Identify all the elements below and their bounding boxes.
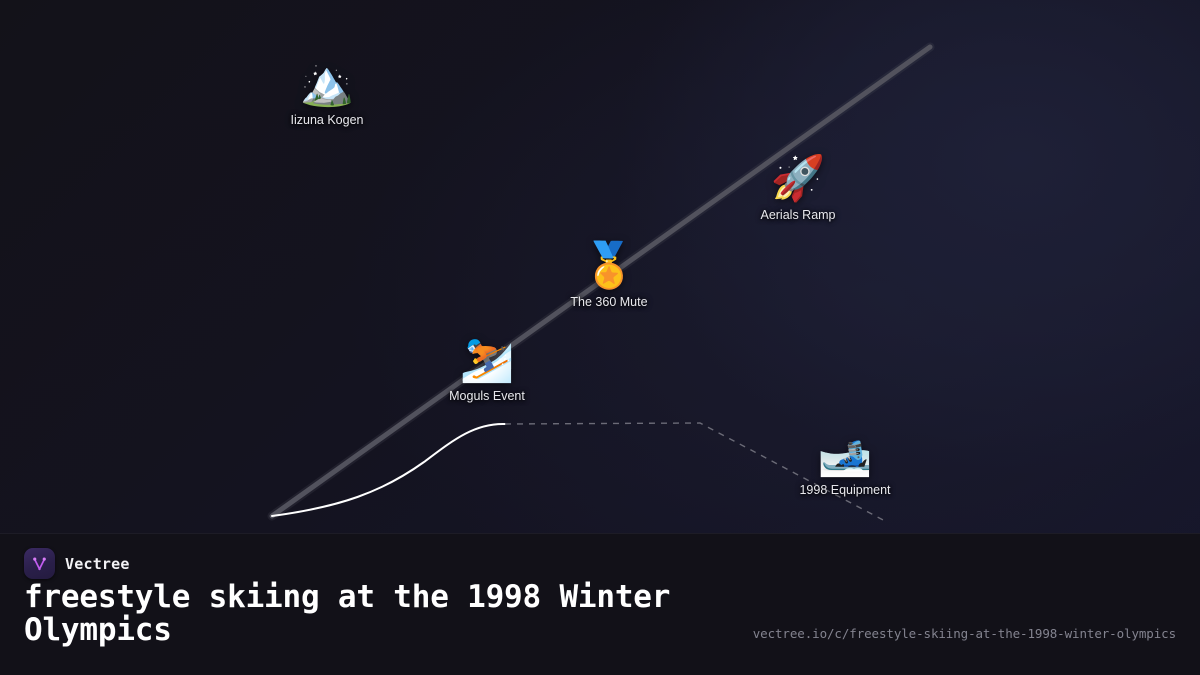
graph-node-1998-equipment[interactable]: 🎿 1998 Equipment (755, 428, 935, 498)
graph-canvas[interactable]: 🏔️ Iizuna Kogen 🚀 Aerials Ramp 🏅 The 360… (0, 0, 1200, 533)
graph-node-the-360-mute[interactable]: 🏅 The 360 Mute (519, 240, 699, 310)
page-title: freestyle skiing at the 1998 Winter Olym… (24, 581, 724, 647)
skier-icon: ⛷️ (460, 334, 515, 386)
brand[interactable]: Vectree (24, 548, 130, 579)
vectree-share-card: 🏔️ Iizuna Kogen 🚀 Aerials Ramp 🏅 The 360… (0, 0, 1200, 675)
graph-node-aerials-ramp[interactable]: 🚀 Aerials Ramp (708, 153, 888, 223)
graph-node-moguls-event[interactable]: ⛷️ Moguls Event (397, 334, 577, 404)
snow-capped-mountain-icon: 🏔️ (300, 58, 355, 110)
footer-bar: Vectree freestyle skiing at the 1998 Win… (0, 533, 1200, 675)
graph-node-label: Iizuna Kogen (291, 113, 364, 128)
graph-node-label: Aerials Ramp (760, 208, 835, 223)
graph-node-label: Moguls Event (449, 389, 525, 404)
sports-medal-icon: 🏅 (582, 240, 637, 292)
footer-url: vectree.io/c/freestyle-skiing-at-the-199… (753, 626, 1176, 641)
skis-icon: 🎿 (818, 428, 873, 480)
graph-node-label: 1998 Equipment (799, 483, 890, 498)
rocket-icon: 🚀 (771, 153, 826, 205)
graph-node-iizuna-kogen[interactable]: 🏔️ Iizuna Kogen (237, 58, 417, 128)
vectree-logo-icon (24, 548, 55, 579)
graph-node-label: The 360 Mute (570, 295, 647, 310)
brand-name: Vectree (65, 555, 130, 573)
